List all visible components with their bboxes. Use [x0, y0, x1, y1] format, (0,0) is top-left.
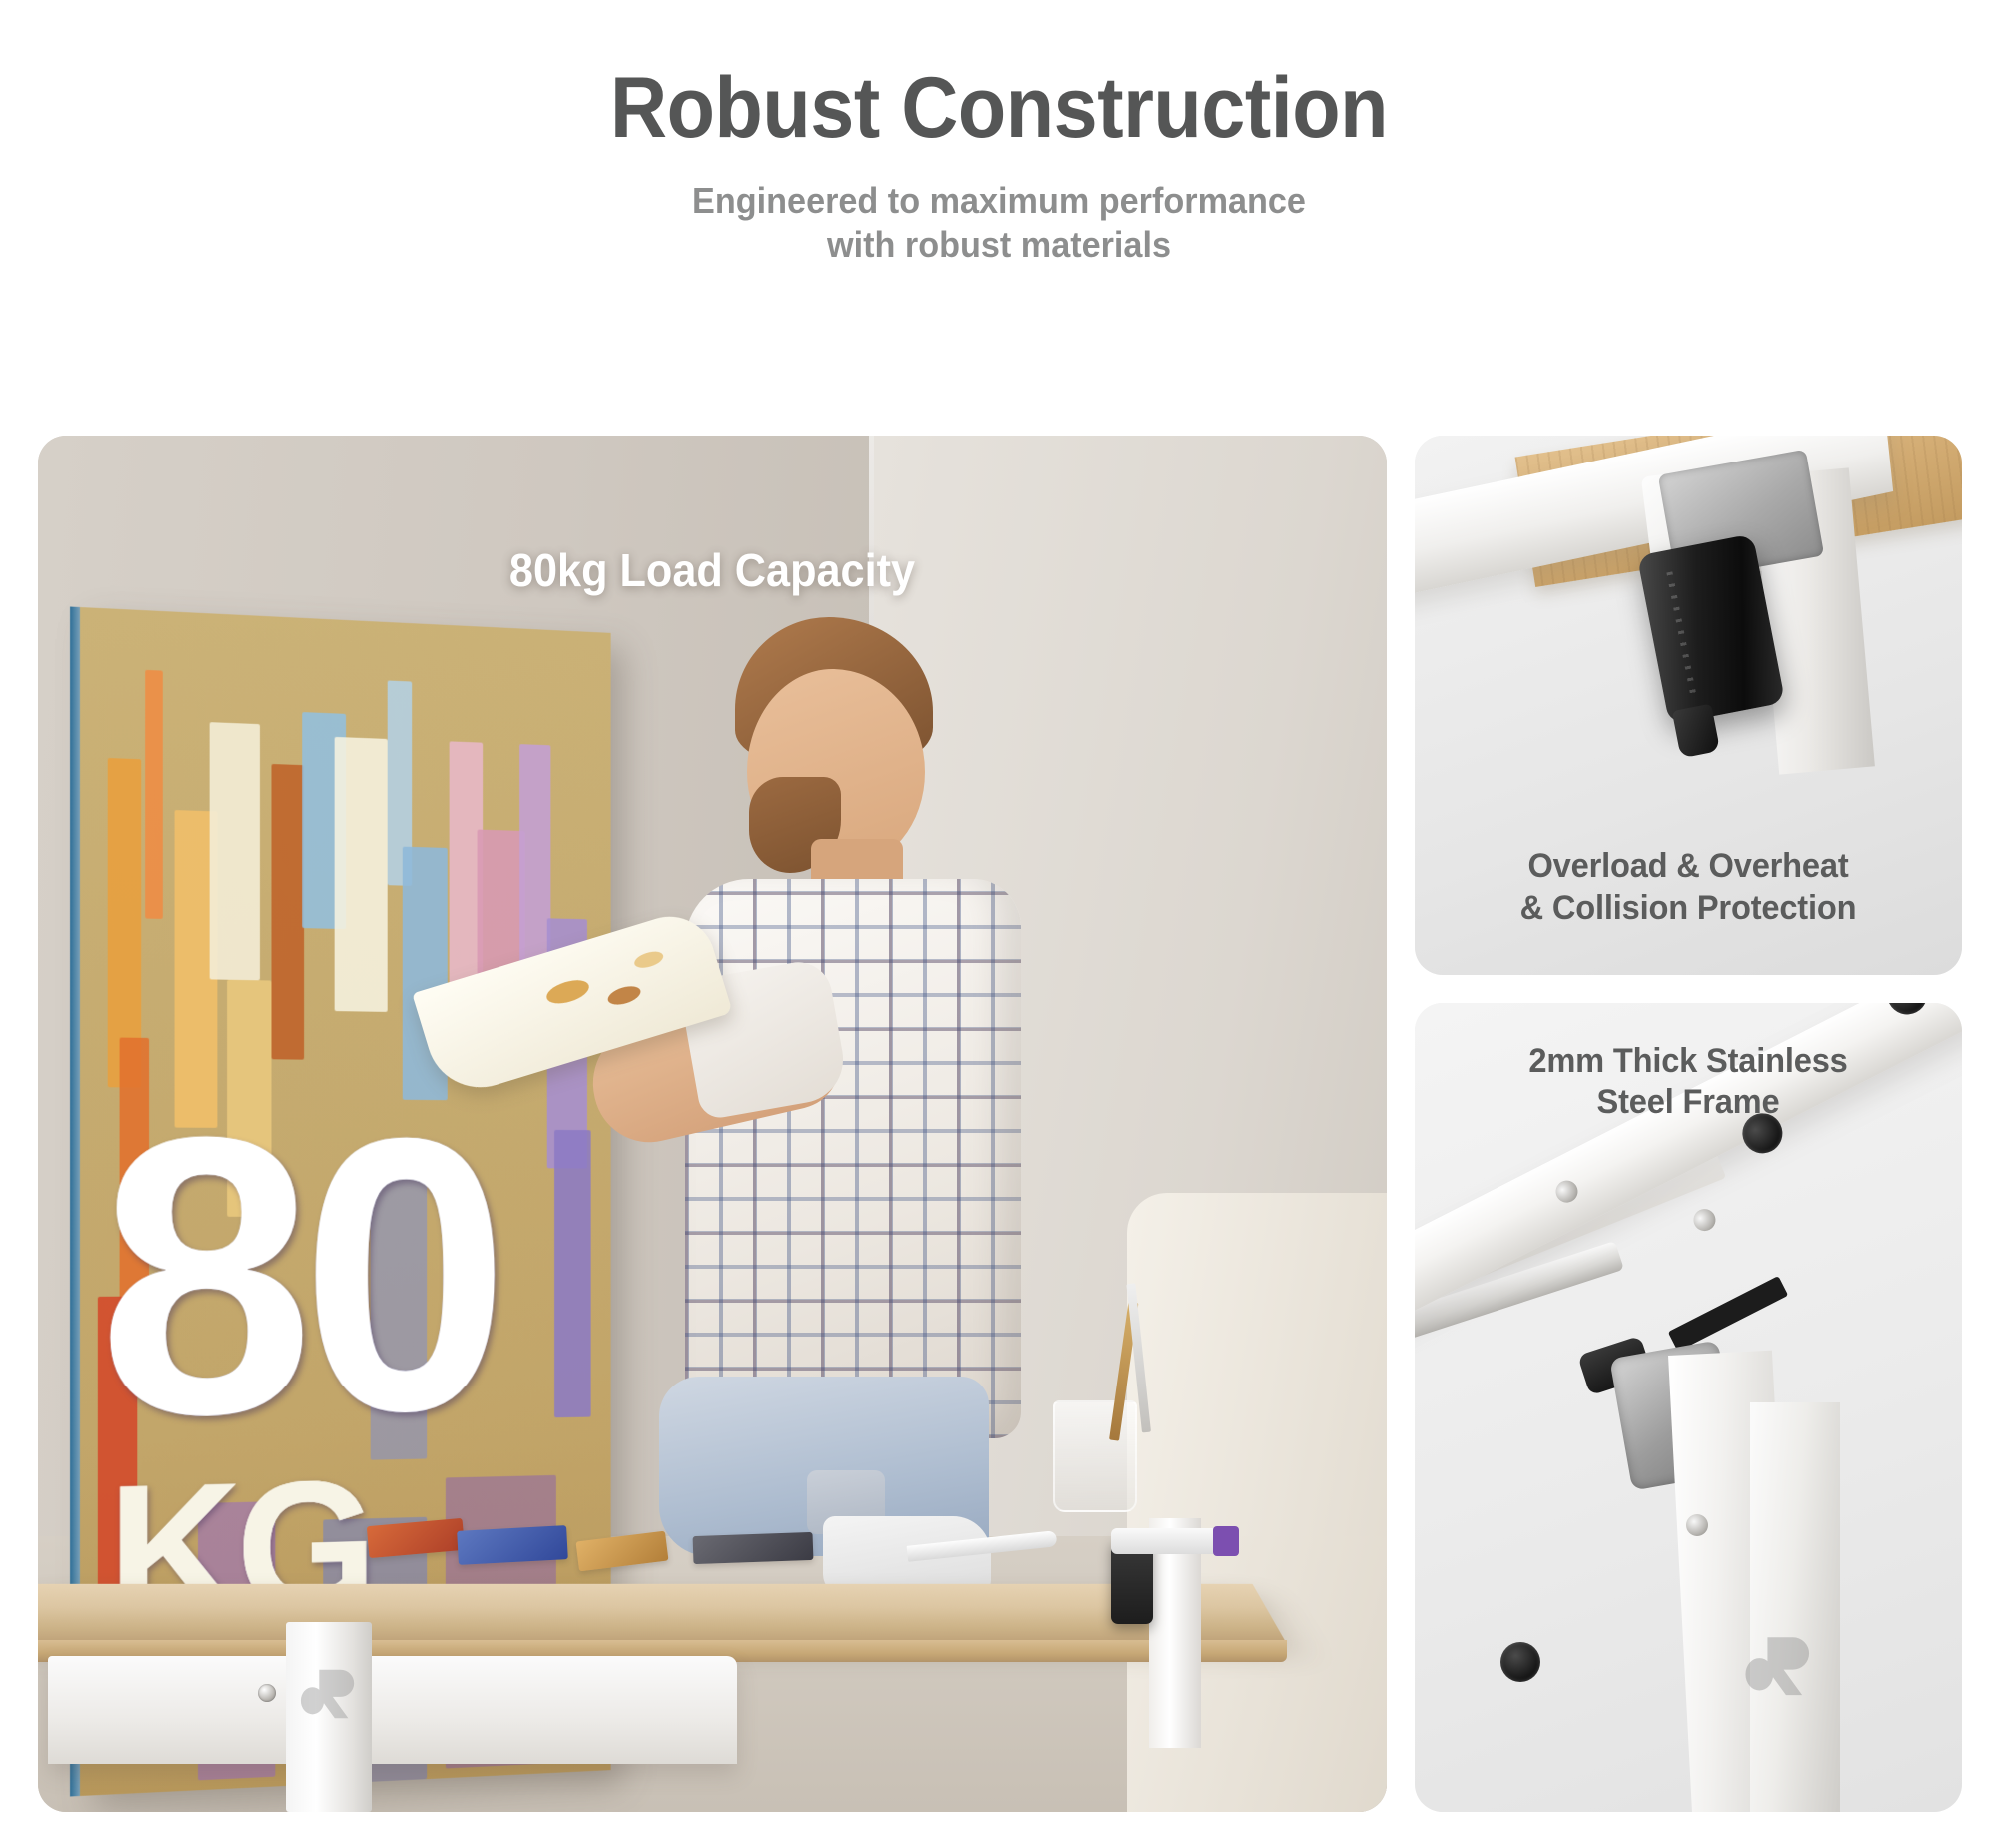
- color-swatch: [457, 1525, 568, 1565]
- feature-card-grid: 80 KG: [38, 436, 1962, 1812]
- load-capacity-scene: 80 KG: [38, 436, 1387, 1812]
- desk-leg: [286, 1622, 372, 1812]
- artist-figure: [597, 617, 1017, 1616]
- painting-number-80: 80: [98, 1077, 497, 1475]
- page-header: Robust Construction Engineered to maximu…: [0, 0, 1998, 267]
- frame-foot-pad: [1500, 1642, 1540, 1682]
- frame-caption: 2mm Thick Stainless Steel Frame: [1426, 1041, 1951, 1124]
- page-subtitle: Engineered to maximum performance with r…: [50, 179, 1948, 267]
- motor-caption: Overload & Overheat & Collision Protecti…: [1426, 846, 1951, 929]
- motor-caption-line-1: Overload & Overheat: [1426, 846, 1951, 887]
- page-title: Robust Construction: [80, 62, 1918, 155]
- motor-protection-card: Overload & Overheat & Collision Protecti…: [1415, 436, 1962, 975]
- frame-leg-column-inner: [1750, 1402, 1840, 1812]
- load-capacity-card: 80 KG: [38, 436, 1387, 1812]
- desk-frame-apron: [48, 1656, 737, 1764]
- brush-jar: [1053, 1400, 1137, 1512]
- artist-plaid-shirt: [685, 879, 1021, 1438]
- r-logo-icon: [298, 1662, 360, 1724]
- steel-frame-card: 2mm Thick Stainless Steel Frame: [1415, 1003, 1962, 1812]
- subtitle-line-1: Engineered to maximum performance: [50, 179, 1948, 223]
- side-card-column: Overload & Overheat & Collision Protecti…: [1415, 436, 1962, 1812]
- frame-photo: [1415, 1003, 1962, 1812]
- frame-screw: [1686, 1514, 1708, 1536]
- frame-caption-line-2: Steel Frame: [1426, 1082, 1951, 1123]
- desk-top-surface: [38, 1584, 1287, 1644]
- color-swatch: [693, 1532, 814, 1564]
- paint-tube-cap: [1213, 1526, 1239, 1556]
- paint-tube: [1111, 1528, 1227, 1554]
- load-capacity-label: 80kg Load Capacity: [79, 543, 1347, 597]
- frame-caption-line-1: 2mm Thick Stainless: [1426, 1041, 1951, 1082]
- subtitle-line-2: with robust materials: [50, 223, 1948, 267]
- r-logo-icon: [1742, 1628, 1816, 1702]
- motor-caption-line-2: & Collision Protection: [1426, 888, 1951, 929]
